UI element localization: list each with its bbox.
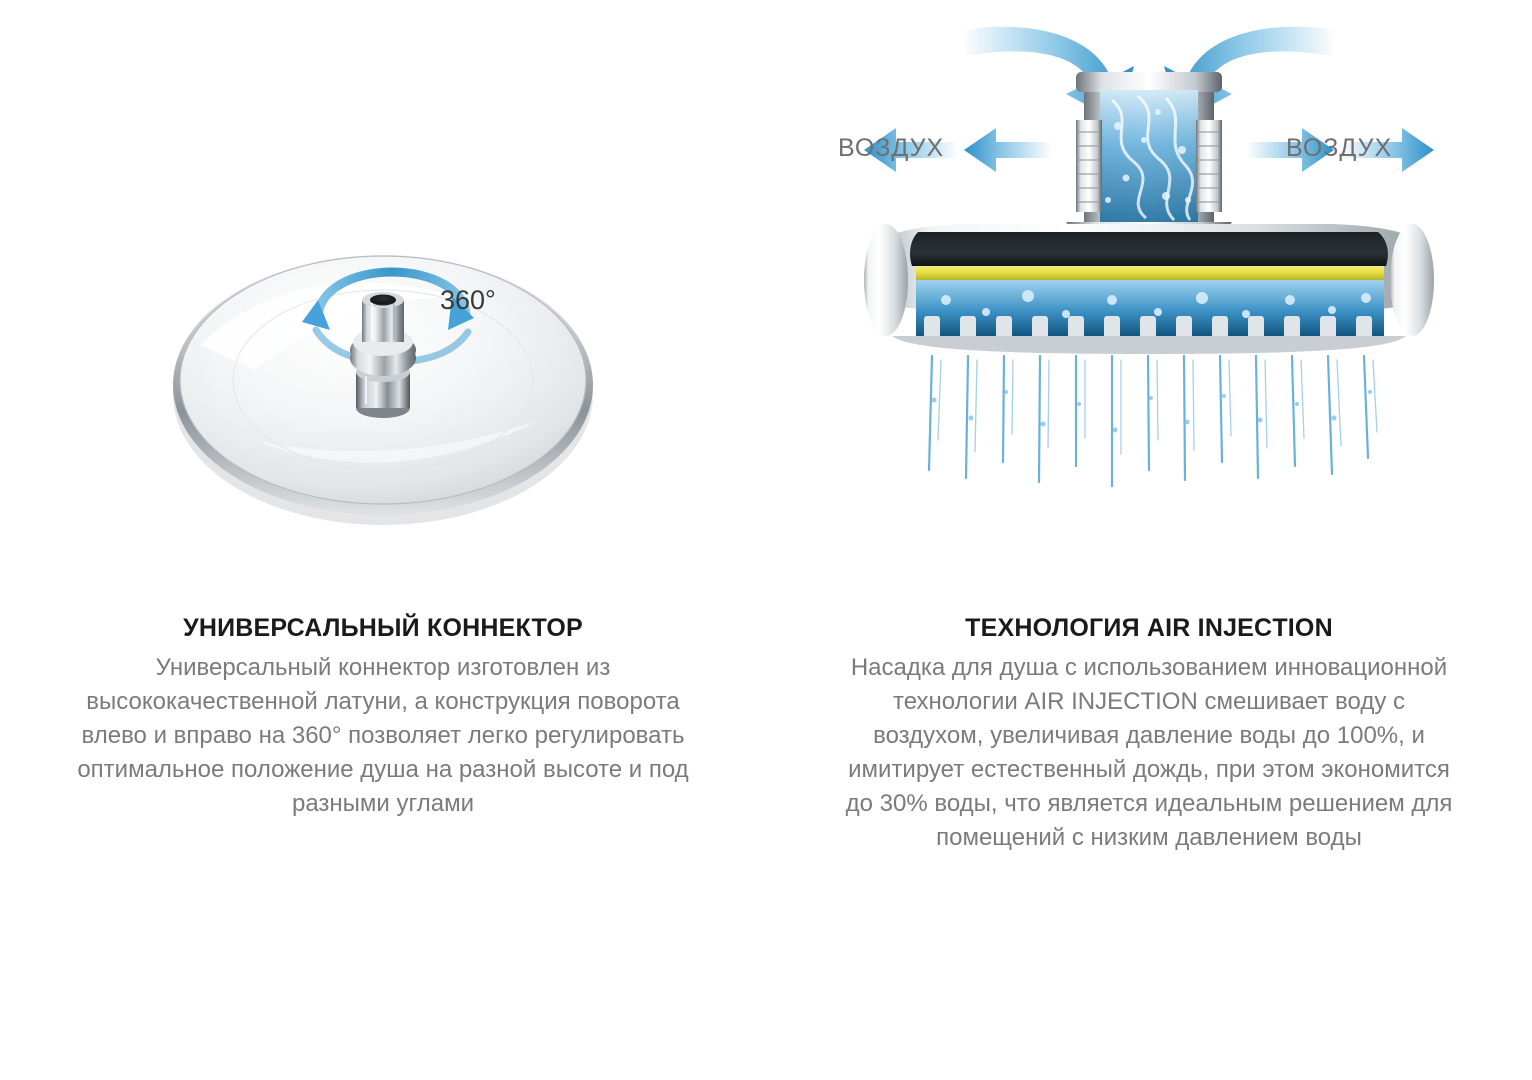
mixing-stem [1066,72,1232,250]
water-jets [929,356,1377,486]
water-droplets [932,390,1373,433]
spread-arrow-left-inner [964,128,1052,172]
caption-right-body: Насадка для душа с использованием иннова… [839,651,1459,855]
caption-left-title: УНИВЕРСАЛЬНЫЙ КОННЕКТОР [73,612,693,645]
caption-left: УНИВЕРСАЛЬНЫЙ КОННЕКТОР Универсальный ко… [73,612,693,821]
air-label-left: ВОЗДУХ [838,134,944,163]
shower-head-body [864,224,1434,354]
figure-shower-head-top: 360° [0,0,766,600]
infographic-page: 360° УНИВЕРСАЛЬНЫЙ КОННЕКТОР Универсальн… [0,0,1532,1080]
caption-left-body: Универсальный коннектор изготовлен из вы… [73,651,693,821]
air-injection-illustration [766,0,1532,600]
rotation-degree-label: 360° [440,285,496,316]
caption-right: ТЕХНОЛОГИЯ AIR INJECTION Насадка для душ… [839,612,1459,855]
panel-air-injection: ВОЗДУХ ВОЗДУХ ТЕХНОЛОГИЯ AIR INJECTION Н… [766,0,1532,1080]
caption-right-title: ТЕХНОЛОГИЯ AIR INJECTION [839,612,1459,645]
air-label-right: ВОЗДУХ [1286,134,1392,163]
figure-shower-head-section: ВОЗДУХ ВОЗДУХ [766,0,1532,600]
panel-universal-connector: 360° УНИВЕРСАЛЬНЫЙ КОННЕКТОР Универсальн… [0,0,766,1080]
shower-head-top-illustration [0,0,766,600]
